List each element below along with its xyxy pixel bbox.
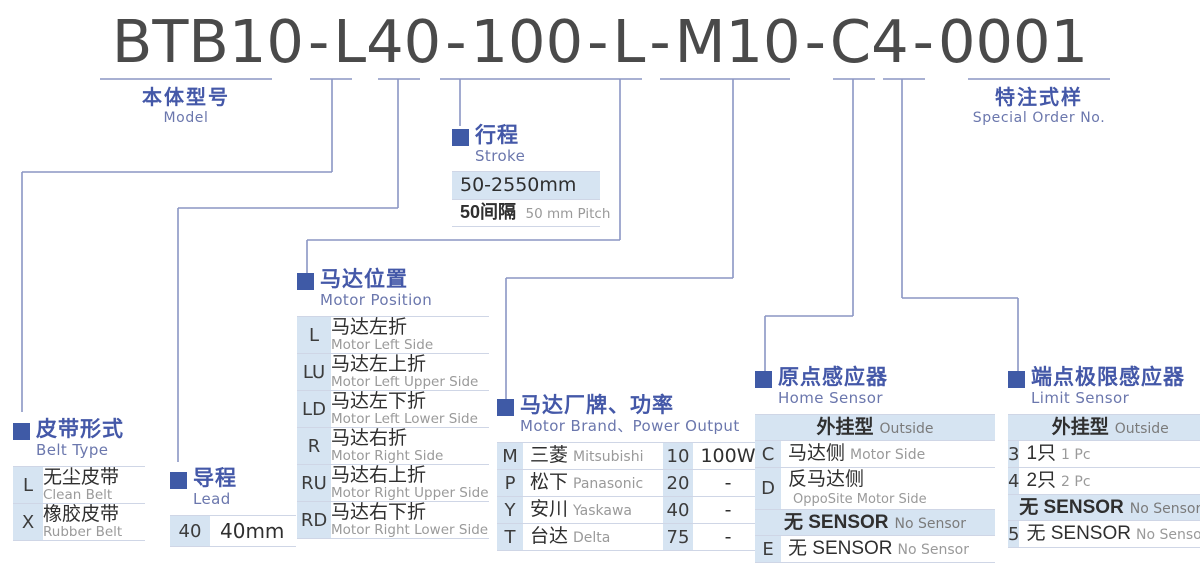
stroke-range: 50-2550mm xyxy=(452,171,600,200)
lead-value-0: 40mm xyxy=(210,516,296,547)
motor-brand-value-1: 松下Panasonic xyxy=(523,470,663,497)
code-segment-2: L xyxy=(333,7,366,76)
limit-sensor-cn-4: 无 SENSOR xyxy=(1026,523,1131,544)
motor-position-value-2: 马达左下折 Motor Left Lower Side xyxy=(331,391,489,428)
group-motor-position-title-en: Motor Position xyxy=(320,291,432,309)
motor-brand-value-3: 台达Delta xyxy=(523,524,663,551)
limit-sensor-value-1: 1只1 Pc xyxy=(1019,441,1200,468)
code-separator-8: - xyxy=(645,7,674,76)
caption-special-order-en: Special Order No. xyxy=(960,110,1118,127)
group-motor-position-title-cn: 马达位置 xyxy=(320,268,408,292)
group-stroke-header: 行程 xyxy=(452,124,600,148)
motor-brand-en-2: Yaskawa xyxy=(573,503,632,519)
motor-position-cn-4: 马达右上折 xyxy=(331,465,489,486)
code-separator-13: - xyxy=(909,7,938,76)
motor-brand-key-1: P xyxy=(497,470,523,497)
belt-type-value-1: 橡胶皮带 Rubber Belt xyxy=(43,504,145,541)
limit-sensor-band-3: 无 SENSORNo Sensor xyxy=(1008,495,1200,521)
motor-position-en-5: Motor Right Lower Side xyxy=(331,523,489,538)
table-row: L 马达左折 Motor Left Side xyxy=(297,317,489,354)
bullet-square-icon xyxy=(297,273,314,290)
group-motor-brand-title-en: Motor Brand、Power Output xyxy=(520,417,740,435)
motor-position-table: L 马达左折 Motor Left Side LU 马达左上折 Motor Le… xyxy=(297,316,489,539)
motor-power-value-1: - xyxy=(693,470,763,497)
table-row: R 马达右折 Motor Right Side xyxy=(297,428,489,465)
motor-brand-value-2: 安川Yaskawa xyxy=(523,497,663,524)
caption-model-cn: 本体型号 xyxy=(100,86,272,110)
limit-sensor-band-cn-3: 无 SENSOR xyxy=(1019,497,1124,518)
code-segment-14: 0001 xyxy=(938,7,1088,76)
motor-position-value-1: 马达左上折 Motor Left Upper Side xyxy=(331,354,489,391)
group-home-sensor: 原点感应器 Home Sensor 外挂型Outside C 马达侧Motor … xyxy=(755,366,995,563)
table-row: Y 安川Yaskawa 40 - xyxy=(497,497,763,524)
motor-brand-key-0: M xyxy=(497,443,523,470)
limit-sensor-band-en-3: No Sensor xyxy=(1130,501,1200,517)
motor-position-cn-3: 马达右折 xyxy=(331,428,489,449)
group-lead-title-en: Lead xyxy=(193,490,231,508)
belt-type-en-1: Rubber Belt xyxy=(43,525,145,540)
motor-brand-cn-2: 安川 xyxy=(530,499,568,520)
group-limit-sensor-title-cn: 端点极限感应器 xyxy=(1031,366,1185,390)
limit-sensor-key-4: 5 xyxy=(1008,521,1019,548)
belt-type-en-0: Clean Belt xyxy=(43,488,145,503)
code-segment-5: 100 xyxy=(471,7,584,76)
group-limit-sensor-header: 端点极限感应器 xyxy=(1008,366,1200,390)
limit-sensor-band-cn-0: 外挂型 xyxy=(1052,417,1109,438)
group-belt-type: 皮带形式 Belt Type L 无尘皮带 Clean Belt X 橡胶皮带 … xyxy=(13,418,145,541)
motor-position-key-0: L xyxy=(297,317,331,354)
group-home-sensor-title-cn: 原点感应器 xyxy=(778,366,888,390)
table-row: 外挂型Outside xyxy=(755,415,995,441)
motor-position-key-5: RD xyxy=(297,502,331,539)
group-lead: 导程 Lead 40 40mm xyxy=(170,467,296,547)
motor-brand-value-0: 三菱Mitsubishi xyxy=(523,443,663,470)
limit-sensor-value-4: 无 SENSORNo Sensor xyxy=(1019,521,1200,548)
stroke-pitch-cn: 50间隔 xyxy=(460,202,516,222)
table-row: E 无 SENSORNo Sensor xyxy=(755,536,995,563)
table-row: 无 SENSORNo Sensor xyxy=(1008,495,1200,521)
motor-power-value-3: - xyxy=(693,524,763,551)
limit-sensor-value-2: 2只2 Pc xyxy=(1019,468,1200,495)
home-sensor-key-1: C xyxy=(755,441,781,468)
limit-sensor-table: 外挂型Outside 3 1只1 Pc 4 2只2 Pc 无 SENSORNo … xyxy=(1008,414,1200,548)
group-limit-sensor: 端点极限感应器 Limit Sensor 外挂型Outside 3 1只1 Pc… xyxy=(1008,366,1200,548)
limit-sensor-cn-2: 2只 xyxy=(1026,470,1056,491)
home-sensor-key-4: E xyxy=(755,536,781,563)
lead-table: 40 40mm xyxy=(170,515,296,547)
home-sensor-band-3: 无 SENSORNo Sensor xyxy=(755,510,995,536)
bullet-square-icon xyxy=(13,423,30,440)
code-segment-9: M10 xyxy=(675,7,801,76)
home-sensor-value-2: 反马达侧OppoSite Motor Side xyxy=(781,468,995,510)
motor-position-cn-0: 马达左折 xyxy=(331,317,489,338)
motor-power-key-1: 20 xyxy=(663,470,693,497)
lead-key-0: 40 xyxy=(170,516,210,547)
stroke-pitch-en: 50 mm Pitch xyxy=(525,206,610,222)
caption-special-order: 特注式样 Special Order No. xyxy=(960,86,1118,127)
group-motor-position: 马达位置 Motor Position L 马达左折 Motor Left Si… xyxy=(297,268,489,539)
motor-position-value-5: 马达右下折 Motor Right Lower Side xyxy=(331,502,489,539)
home-sensor-table: 外挂型Outside C 马达侧Motor Side D 反马达侧OppoSit… xyxy=(755,414,995,563)
motor-brand-en-3: Delta xyxy=(573,530,610,546)
group-belt-type-title-en: Belt Type xyxy=(36,441,108,459)
group-home-sensor-header: 原点感应器 xyxy=(755,366,995,390)
table-row: 5 无 SENSORNo Sensor xyxy=(1008,521,1200,548)
code-segment-3: 40 xyxy=(366,7,441,76)
code-segment-12: 4 xyxy=(871,7,909,76)
table-row: L 无尘皮带 Clean Belt xyxy=(13,467,145,504)
code-segment-7: L xyxy=(612,7,645,76)
table-row: P 松下Panasonic 20 - xyxy=(497,470,763,497)
code-segment-0: BTB10 xyxy=(112,7,304,76)
group-stroke: 行程 Stroke 50-2550mm 50间隔 50 mm Pitch xyxy=(452,124,600,227)
home-sensor-cn-4: 无 SENSOR xyxy=(788,538,893,559)
motor-position-cn-2: 马达左下折 xyxy=(331,391,489,412)
motor-brand-key-2: Y xyxy=(497,497,523,524)
limit-sensor-en-2: 2 Pc xyxy=(1061,474,1091,490)
home-sensor-band-0: 外挂型Outside xyxy=(755,415,995,441)
motor-brand-en-1: Panasonic xyxy=(573,476,643,492)
stroke-pitch: 50间隔 50 mm Pitch xyxy=(452,200,600,227)
table-row: 3 1只1 Pc xyxy=(1008,441,1200,468)
code-separator-1: - xyxy=(304,7,333,76)
home-sensor-value-4: 无 SENSORNo Sensor xyxy=(781,536,995,563)
motor-position-key-1: LU xyxy=(297,354,331,391)
group-motor-brand-title-cn: 马达厂牌、功率 xyxy=(520,394,674,418)
home-sensor-cn-2: 反马达侧 xyxy=(788,469,864,490)
table-row: D 反马达侧OppoSite Motor Side xyxy=(755,468,995,510)
limit-sensor-band-0: 外挂型Outside xyxy=(1008,415,1200,441)
group-stroke-title-en: Stroke xyxy=(475,147,525,165)
motor-position-key-4: RU xyxy=(297,465,331,502)
motor-brand-en-0: Mitsubishi xyxy=(573,449,643,465)
belt-type-key-1: X xyxy=(13,504,43,541)
code-segment-11: C xyxy=(830,7,871,76)
table-row: LD 马达左下折 Motor Left Lower Side xyxy=(297,391,489,428)
belt-type-cn-1: 橡胶皮带 xyxy=(43,504,145,525)
motor-position-en-4: Motor Right Upper Side xyxy=(331,486,489,501)
home-sensor-cn-1: 马达侧 xyxy=(788,443,845,464)
belt-type-value-0: 无尘皮带 Clean Belt xyxy=(43,467,145,504)
limit-sensor-cn-1: 1只 xyxy=(1026,443,1056,464)
group-belt-type-header: 皮带形式 xyxy=(13,418,145,442)
motor-brand-table: M 三菱Mitsubishi 10 100W P 松下Panasonic 20 … xyxy=(497,442,763,551)
table-row: M 三菱Mitsubishi 10 100W xyxy=(497,443,763,470)
motor-position-value-0: 马达左折 Motor Left Side xyxy=(331,317,489,354)
motor-brand-cn-1: 松下 xyxy=(530,472,568,493)
motor-power-key-2: 40 xyxy=(663,497,693,524)
home-sensor-en-2: OppoSite Motor Side xyxy=(793,492,927,507)
bullet-square-icon xyxy=(1008,371,1025,388)
limit-sensor-en-4: No Sensor xyxy=(1136,527,1200,543)
table-row: 无 SENSORNo Sensor xyxy=(755,510,995,536)
caption-model-en: Model xyxy=(100,110,272,127)
table-row: LU 马达左上折 Motor Left Upper Side xyxy=(297,354,489,391)
code-separator-10: - xyxy=(801,7,830,76)
table-row: RD 马达右下折 Motor Right Lower Side xyxy=(297,502,489,539)
home-sensor-value-1: 马达侧Motor Side xyxy=(781,441,995,468)
motor-power-value-0: 100W xyxy=(693,443,763,470)
home-sensor-en-4: No Sensor xyxy=(898,542,969,558)
motor-brand-key-3: T xyxy=(497,524,523,551)
table-row: 外挂型Outside xyxy=(1008,415,1200,441)
motor-position-en-1: Motor Left Upper Side xyxy=(331,375,489,390)
home-sensor-band-cn-3: 无 SENSOR xyxy=(784,512,889,533)
motor-position-cn-5: 马达右下折 xyxy=(331,502,489,523)
belt-type-key-0: L xyxy=(13,467,43,504)
belt-type-cn-0: 无尘皮带 xyxy=(43,467,145,488)
motor-position-en-0: Motor Left Side xyxy=(331,338,489,353)
motor-power-key-3: 75 xyxy=(663,524,693,551)
caption-special-order-cn: 特注式样 xyxy=(960,86,1118,110)
bullet-square-icon xyxy=(755,371,772,388)
code-separator-4: - xyxy=(441,7,470,76)
limit-sensor-key-1: 3 xyxy=(1008,441,1019,468)
bullet-square-icon xyxy=(497,399,514,416)
home-sensor-key-2: D xyxy=(755,468,781,510)
stroke-table: 50-2550mm 50间隔 50 mm Pitch xyxy=(452,171,600,227)
home-sensor-band-en-0: Outside xyxy=(879,421,933,437)
motor-position-value-3: 马达右折 Motor Right Side xyxy=(331,428,489,465)
limit-sensor-key-2: 4 xyxy=(1008,468,1019,495)
home-sensor-band-cn-0: 外挂型 xyxy=(816,417,873,438)
motor-position-en-2: Motor Left Lower Side xyxy=(331,412,489,427)
table-row: 4 2只2 Pc xyxy=(1008,468,1200,495)
code-separator-6: - xyxy=(583,7,612,76)
motor-brand-cn-3: 台达 xyxy=(530,526,568,547)
caption-model: 本体型号 Model xyxy=(100,86,272,127)
motor-position-cn-1: 马达左上折 xyxy=(331,354,489,375)
table-row: T 台达Delta 75 - xyxy=(497,524,763,551)
home-sensor-band-en-3: No Sensor xyxy=(895,516,966,532)
belt-type-table: L 无尘皮带 Clean Belt X 橡胶皮带 Rubber Belt xyxy=(13,466,145,541)
table-row: RU 马达右上折 Motor Right Upper Side xyxy=(297,465,489,502)
limit-sensor-en-1: 1 Pc xyxy=(1061,447,1091,463)
model-code-line: BTB10 - L 40 - 100 - L - M10 - C 4 - 000… xyxy=(0,6,1200,76)
home-sensor-en-1: Motor Side xyxy=(850,447,925,463)
table-row: 40 40mm xyxy=(170,516,296,547)
group-home-sensor-title-en: Home Sensor xyxy=(778,389,883,407)
motor-position-key-2: LD xyxy=(297,391,331,428)
table-row: C 马达侧Motor Side xyxy=(755,441,995,468)
bullet-square-icon xyxy=(170,472,187,489)
group-belt-type-title-cn: 皮带形式 xyxy=(36,418,124,442)
motor-brand-cn-0: 三菱 xyxy=(530,445,568,466)
group-lead-title-cn: 导程 xyxy=(193,467,237,491)
group-motor-brand-header: 马达厂牌、功率 xyxy=(497,394,763,418)
motor-power-key-0: 10 xyxy=(663,443,693,470)
motor-power-value-2: - xyxy=(693,497,763,524)
motor-position-en-3: Motor Right Side xyxy=(331,449,489,464)
group-motor-brand: 马达厂牌、功率 Motor Brand、Power Output M 三菱Mit… xyxy=(497,394,763,551)
group-motor-position-header: 马达位置 xyxy=(297,268,489,292)
group-stroke-title-cn: 行程 xyxy=(475,124,519,148)
bullet-square-icon xyxy=(452,129,469,146)
limit-sensor-band-en-0: Outside xyxy=(1115,421,1169,437)
motor-position-value-4: 马达右上折 Motor Right Upper Side xyxy=(331,465,489,502)
motor-position-key-3: R xyxy=(297,428,331,465)
model-code-diagram: BTB10 - L 40 - 100 - L - M10 - C 4 - 000… xyxy=(0,0,1200,551)
group-lead-header: 导程 xyxy=(170,467,296,491)
table-row: X 橡胶皮带 Rubber Belt xyxy=(13,504,145,541)
group-limit-sensor-title-en: Limit Sensor xyxy=(1031,389,1129,407)
